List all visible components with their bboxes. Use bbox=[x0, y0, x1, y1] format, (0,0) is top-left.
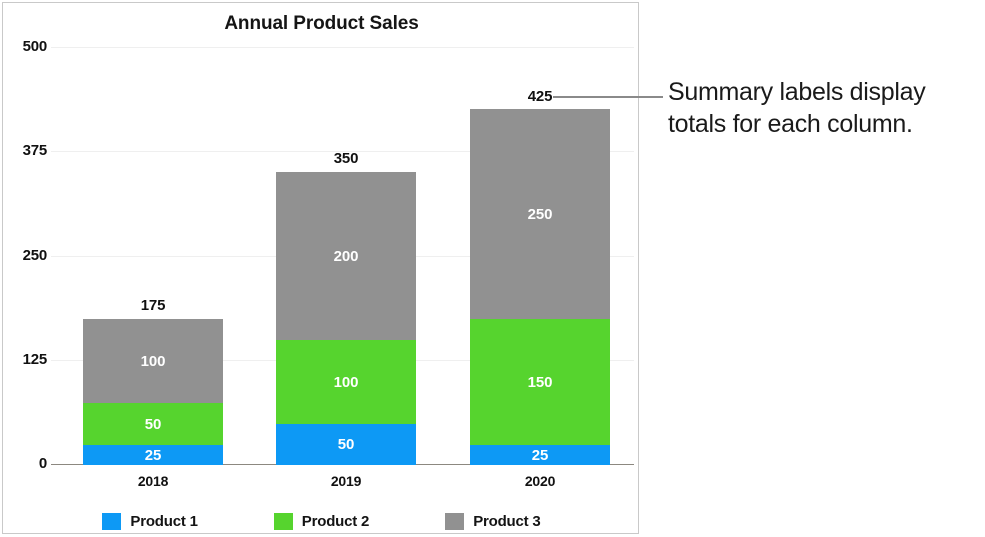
bar-segment-2018-product-2[interactable]: 50 bbox=[83, 403, 223, 445]
y-tick-label-250: 250 bbox=[7, 247, 47, 264]
x-category-label-2019: 2019 bbox=[276, 473, 416, 489]
y-tick-label-125: 125 bbox=[7, 351, 47, 368]
chart-container[interactable]: Annual Product Sales 500 375 250 125 0 1… bbox=[2, 2, 639, 534]
legend-swatch-icon bbox=[102, 513, 121, 530]
bar-segment-2018-product-3[interactable]: 100 bbox=[83, 319, 223, 403]
bar-total-2018: 175 bbox=[83, 297, 223, 314]
legend-label: Product 2 bbox=[302, 513, 369, 530]
bar-segment-value: 25 bbox=[532, 448, 549, 463]
bar-segment-2019-product-3[interactable]: 200 bbox=[276, 172, 416, 340]
bar-segment-value: 25 bbox=[145, 448, 162, 463]
bar-group-2020[interactable]: 425 250 150 25 2020 bbox=[470, 3, 610, 535]
bar-segment-2019-product-2[interactable]: 100 bbox=[276, 340, 416, 424]
plot-area: 500 375 250 125 0 175 100 50 25 2018 350… bbox=[3, 3, 640, 535]
legend-swatch-icon bbox=[274, 513, 293, 530]
bar-segment-value: 100 bbox=[141, 354, 166, 369]
bar-segment-value: 50 bbox=[338, 437, 355, 452]
bar-segment-value: 150 bbox=[528, 375, 553, 390]
bar-segment-value: 100 bbox=[334, 375, 359, 390]
x-category-label-2018: 2018 bbox=[83, 473, 223, 489]
bar-segment-value: 250 bbox=[528, 207, 553, 222]
chart-legend: Product 1 Product 2 Product 3 bbox=[3, 513, 640, 530]
legend-label: Product 3 bbox=[473, 513, 540, 530]
bar-segment-2018-product-1[interactable]: 25 bbox=[83, 445, 223, 465]
bar-segment-2019-product-1[interactable]: 50 bbox=[276, 424, 416, 465]
bar-segment-value: 50 bbox=[145, 417, 162, 432]
legend-item-product-1[interactable]: Product 1 bbox=[102, 513, 197, 530]
callout-leader-line bbox=[553, 96, 663, 98]
bar-group-2019[interactable]: 350 200 100 50 2019 bbox=[276, 3, 416, 535]
y-tick-label-375: 375 bbox=[7, 142, 47, 159]
bar-group-2018[interactable]: 175 100 50 25 2018 bbox=[83, 3, 223, 535]
bar-total-2019: 350 bbox=[276, 150, 416, 167]
legend-swatch-icon bbox=[445, 513, 464, 530]
bar-segment-2020-product-2[interactable]: 150 bbox=[470, 319, 610, 445]
legend-item-product-3[interactable]: Product 3 bbox=[445, 513, 540, 530]
legend-label: Product 1 bbox=[130, 513, 197, 530]
legend-item-product-2[interactable]: Product 2 bbox=[274, 513, 369, 530]
bar-segment-2020-product-1[interactable]: 25 bbox=[470, 445, 610, 465]
callout-annotation-text: Summary labels display totals for each c… bbox=[668, 76, 983, 140]
bar-segment-value: 200 bbox=[334, 249, 359, 264]
y-tick-label-500: 500 bbox=[7, 38, 47, 55]
y-tick-label-0: 0 bbox=[7, 455, 47, 472]
bar-segment-2020-product-3[interactable]: 250 bbox=[470, 109, 610, 319]
x-category-label-2020: 2020 bbox=[470, 473, 610, 489]
